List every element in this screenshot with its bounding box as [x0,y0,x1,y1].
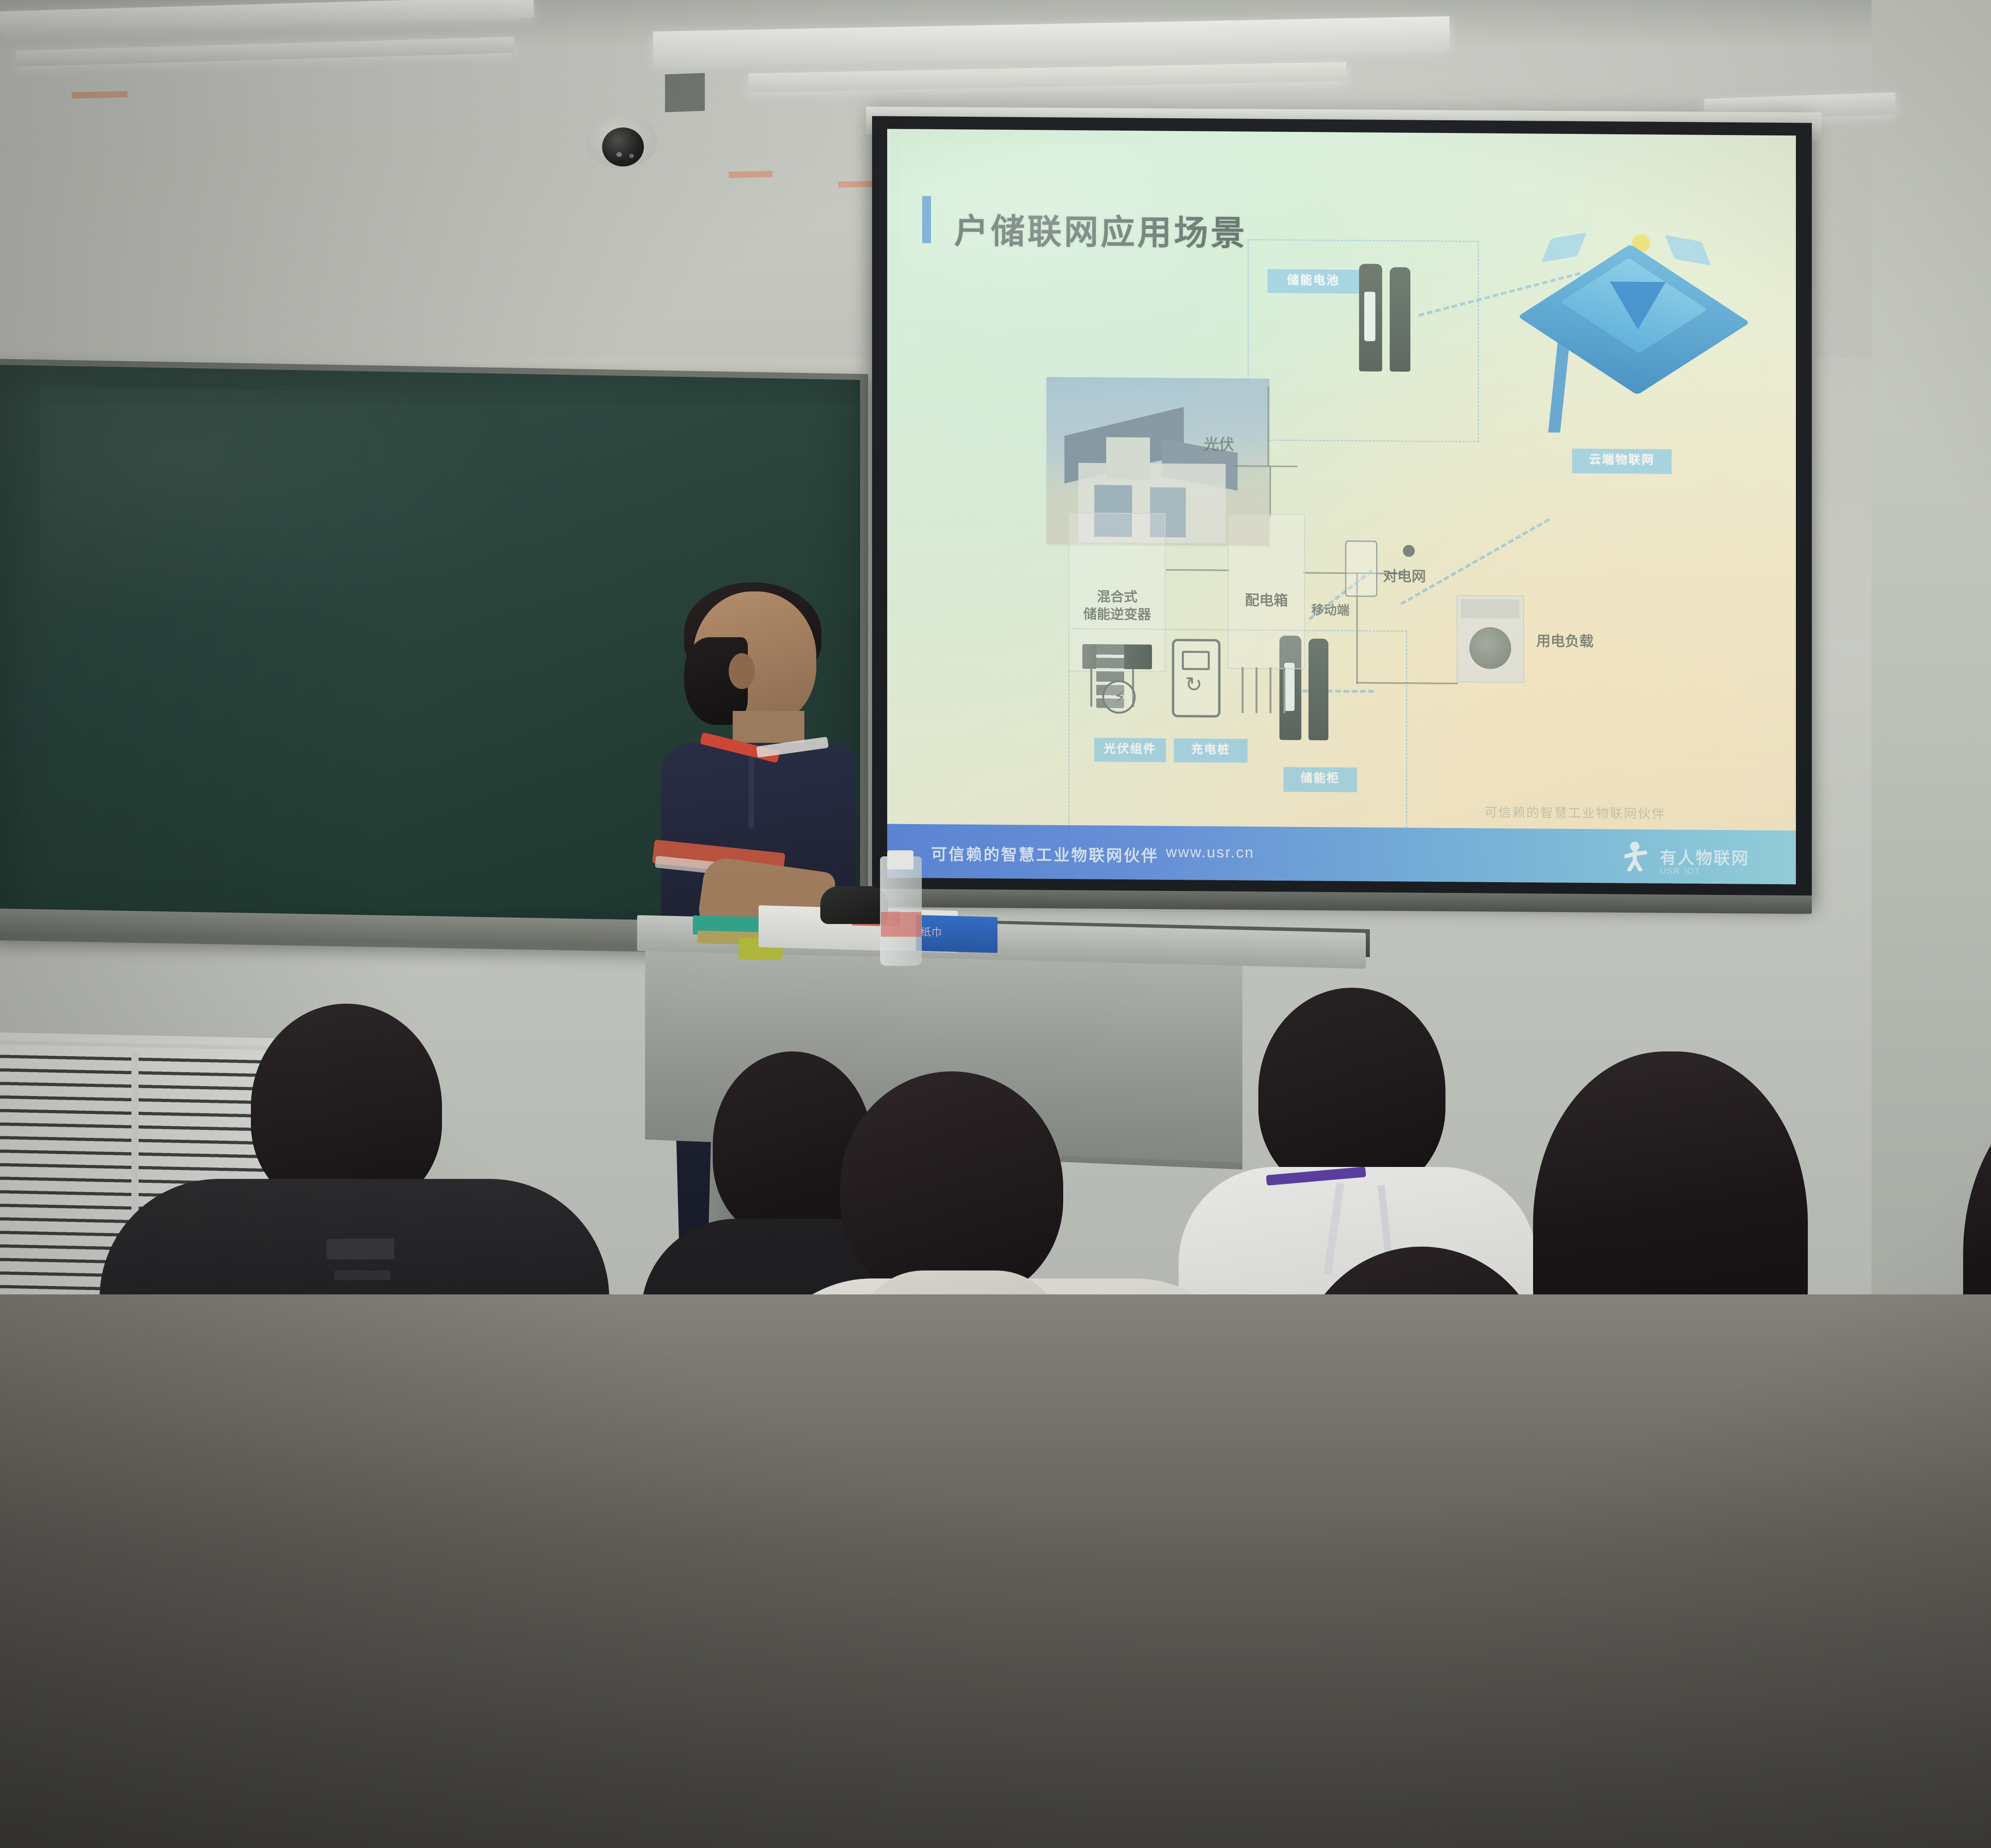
mobile-phone-icon [1345,540,1377,597]
load-label: 用电负载 [1536,630,1594,651]
battery-icon [1308,638,1328,740]
floor [0,1294,1991,1848]
appliance-icon [1457,595,1524,683]
presenter-ear [729,653,755,689]
diagram-wire [1269,466,1271,516]
bolt-icon: ⚡ [1113,686,1126,708]
screen-glare [900,142,1258,352]
battery-icon [1359,264,1382,371]
footer-url: www.usr.cn [1166,844,1254,862]
camera-lens-dot [616,152,622,157]
audience-head [1258,988,1445,1195]
presenter-placket [749,757,754,828]
diagram-tag: 充电桩 [1174,738,1248,763]
water-bottle[interactable] [880,856,922,966]
shirt-logo [334,1270,390,1280]
computer-mouse[interactable] [820,886,888,924]
footer-slogan: 可信赖的智慧工业物联网伙伴 [931,841,1159,866]
distribution-lead [1242,667,1244,713]
right-wall [1872,0,1991,1354]
diagram-tag: 光伏组件 [1094,738,1166,762]
footer-logo-sub: USR IOT [1660,866,1701,877]
cloud-wing [1541,233,1587,262]
diagram-tag: 储能电池 [1267,269,1359,294]
cloud-wing [1665,235,1711,266]
diagram-wire [1166,569,1230,571]
diagram-wire [1267,387,1269,466]
grid-node-icon [1403,545,1415,557]
person-logo-icon [1620,840,1651,871]
diagram-tag: 云端物联网 [1572,448,1672,474]
wall-tape-mark [729,171,773,178]
audience-head [840,1071,1063,1302]
distribution-lead [1283,668,1285,713]
battery-icon [1390,267,1410,372]
wireless-link-dashed [1400,518,1550,605]
mobile-label: 移动端 [1311,600,1349,619]
camera-lens-dot [629,154,634,158]
distribution-box-label: 配电箱 [1230,589,1303,610]
distribution-lead [1256,667,1258,713]
classroom-scene: 消防设施 户储联网应用场景 光伏 [0,0,1991,1848]
inverter-label: 混合式储能逆变器 [1074,588,1160,624]
dome-camera-icon [602,127,644,166]
footer-logo-text: 有人物联网 [1660,844,1749,869]
shirt-logo [327,1239,394,1259]
diagram-tag: 储能柜 [1283,767,1357,792]
pv-label: 光伏 [1204,432,1234,454]
bottle-label [881,912,921,937]
inverter-lead [1090,669,1092,707]
blackboard-sheen [40,386,518,634]
charger-screen [1182,651,1210,670]
grid-label: 对电网 [1383,565,1426,586]
bottle-cap [887,850,913,869]
tissue-box-label: 纸巾 [921,924,994,941]
cloud-post [1548,341,1570,433]
distribution-lead [1269,668,1271,713]
slide-watermark: 可信赖的智慧工业物联网伙伴 [1484,803,1666,822]
ceiling-vent [665,73,705,112]
wall-tape-mark [72,91,127,99]
wireless-link-dashed [1294,689,1374,693]
recycle-icon: ↻ [1185,673,1203,697]
